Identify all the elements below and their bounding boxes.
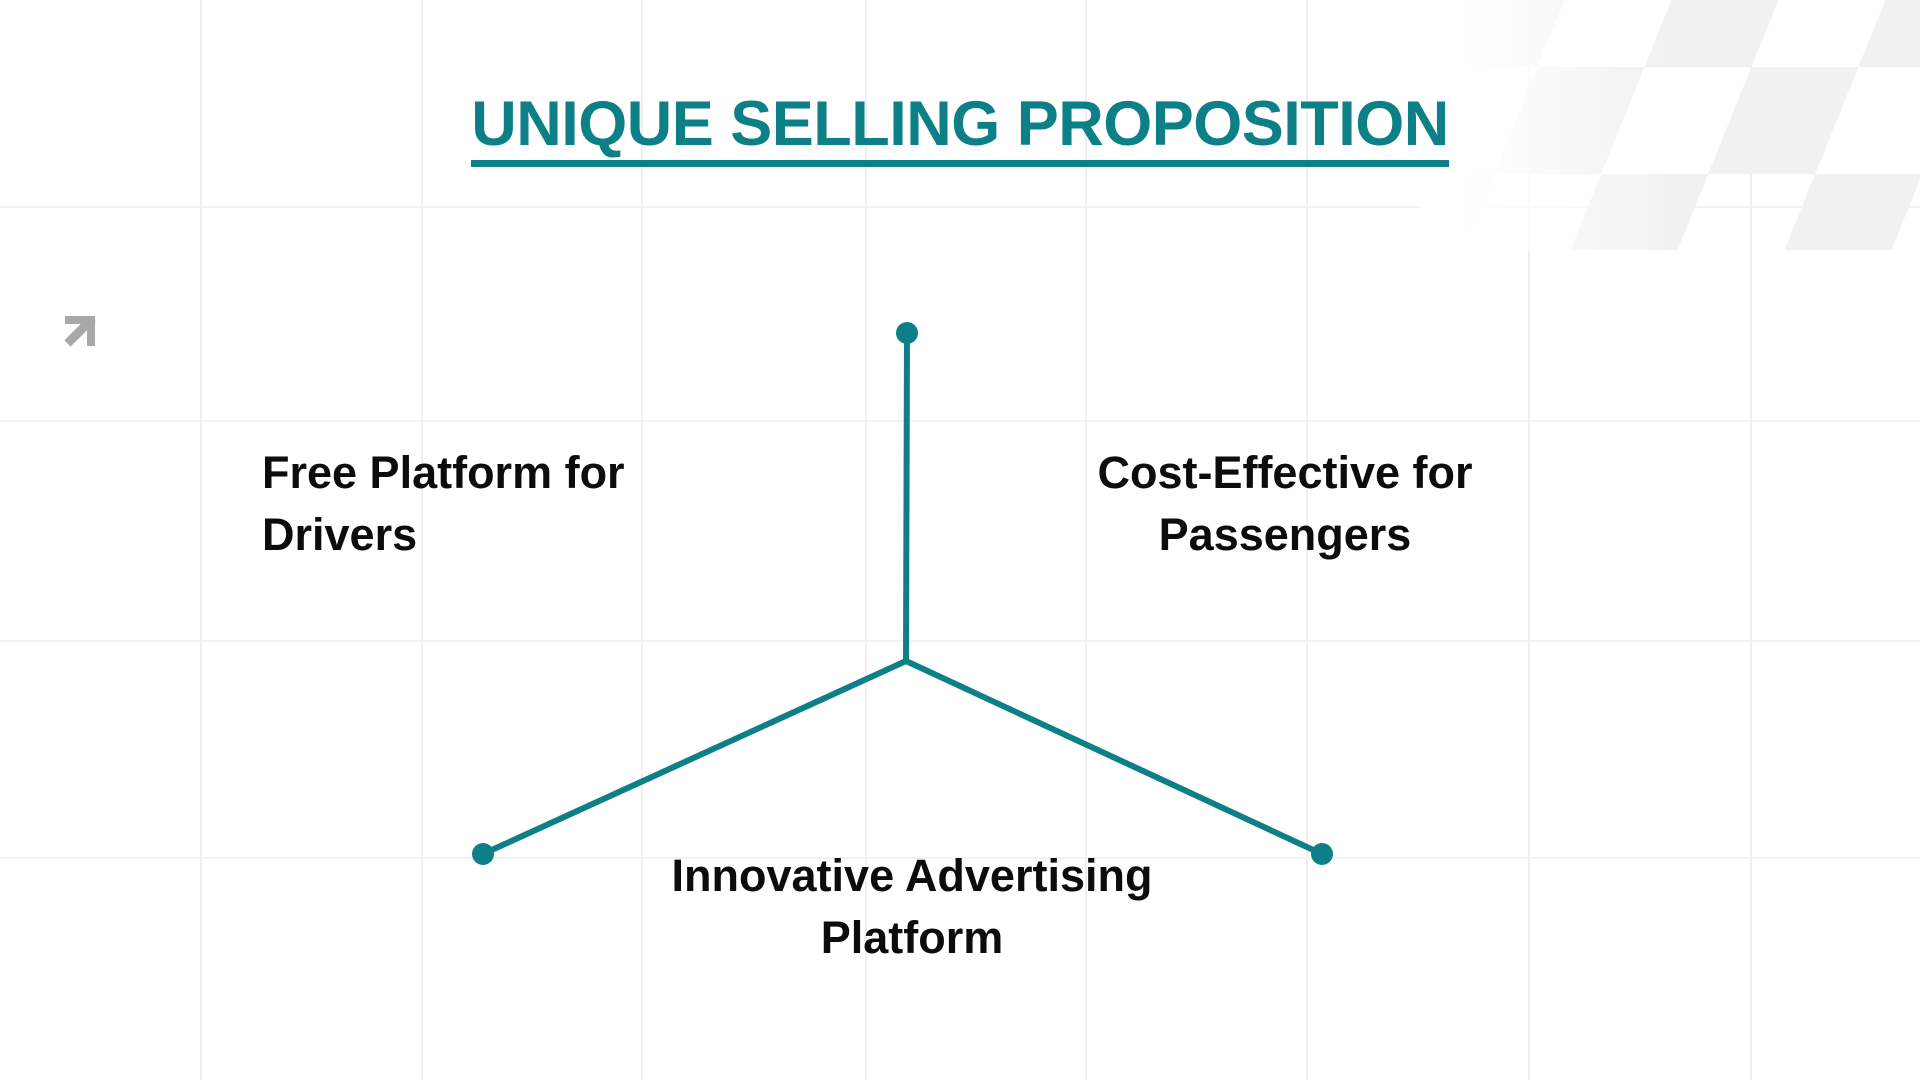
node-label-line-1: Cost-Effective for bbox=[1097, 447, 1472, 498]
node-label-line-2: Drivers bbox=[262, 509, 417, 560]
node-label-line-2: Passengers bbox=[1159, 509, 1412, 560]
connector-node-bottom-left bbox=[472, 843, 494, 865]
node-label-free-platform-for-drivers: Free Platform for Drivers bbox=[262, 442, 732, 566]
grid-line-horizontal bbox=[0, 206, 1920, 208]
node-label-line-1: Free Platform for bbox=[262, 447, 625, 498]
connector-line-bottom-right bbox=[906, 661, 1322, 854]
connector-line-bottom-left bbox=[483, 661, 906, 854]
slide-canvas: UNIQUE SELLING PROPOSITION Free Platform… bbox=[0, 0, 1920, 1080]
node-label-cost-effective-for-passengers: Cost-Effective for Passengers bbox=[1040, 442, 1530, 566]
slide-title: UNIQUE SELLING PROPOSITION bbox=[0, 88, 1920, 167]
node-label-innovative-advertising-platform: Innovative Advertising Platform bbox=[592, 845, 1232, 969]
slide-title-text: UNIQUE SELLING PROPOSITION bbox=[471, 91, 1449, 167]
connector-line-top bbox=[906, 333, 907, 661]
grid-line-horizontal bbox=[0, 640, 1920, 642]
arrow-up-right-icon bbox=[57, 308, 103, 354]
connector-node-bottom-right bbox=[1311, 843, 1333, 865]
node-label-line-1: Innovative Advertising bbox=[672, 850, 1153, 901]
connector-node-top bbox=[896, 322, 918, 344]
node-label-line-2: Platform bbox=[821, 912, 1004, 963]
grid-line-horizontal bbox=[0, 420, 1920, 422]
